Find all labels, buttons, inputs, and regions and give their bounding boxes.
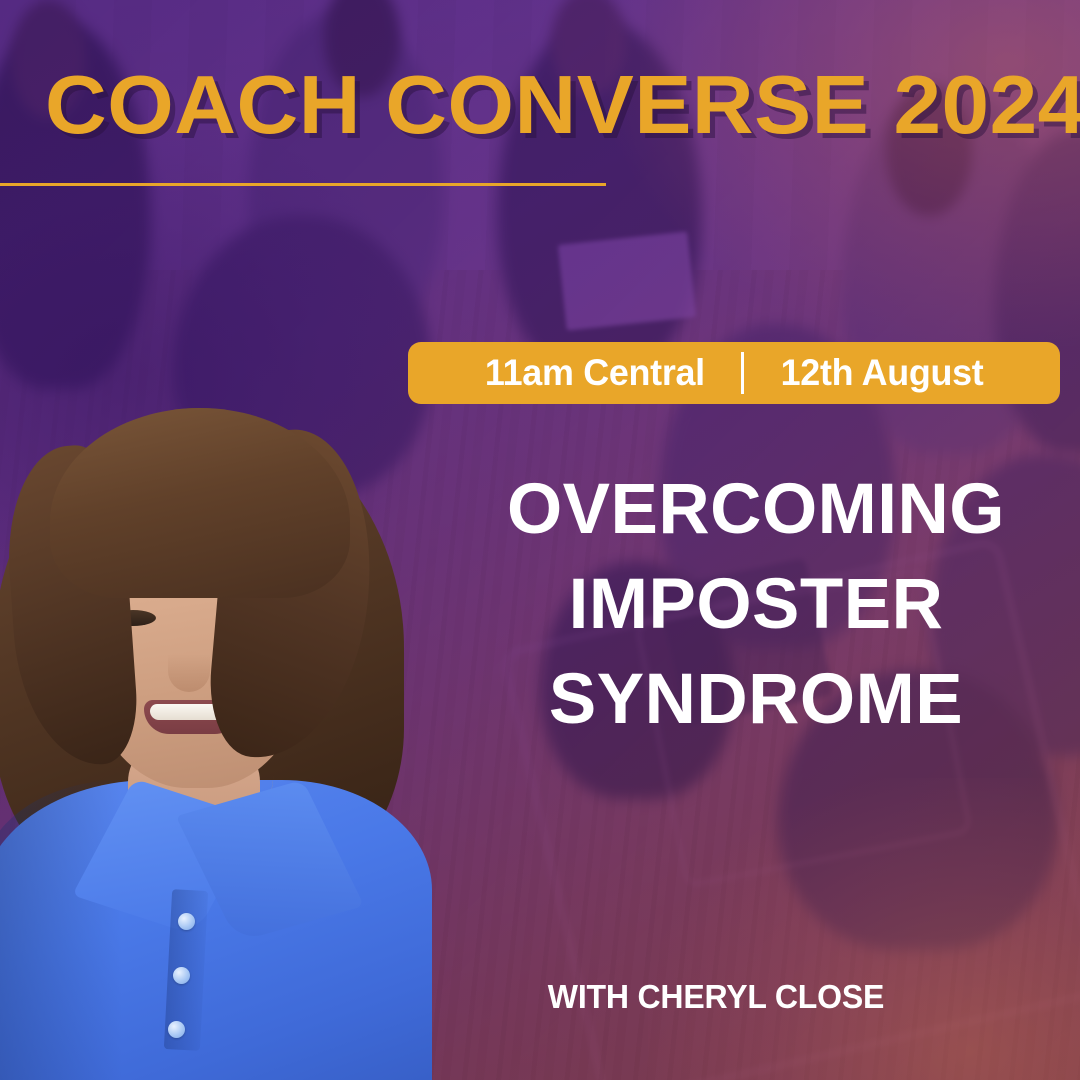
headline-line-2: IMPOSTER (446, 557, 1066, 652)
headline-line-3: SYNDROME (446, 652, 1066, 747)
speaker-credit: WITH CHERYL CLOSE (425, 978, 1007, 1016)
event-promo-poster: COACH CONVERSE 2024 11am Central 12th Au… (0, 0, 1080, 1080)
event-title: COACH CONVERSE 2024 (45, 57, 1080, 153)
poster-content: COACH CONVERSE 2024 11am Central 12th Au… (0, 0, 1080, 1080)
date-time-badge: 11am Central 12th August (408, 342, 1060, 404)
badge-date-label: 12th August (748, 352, 984, 394)
session-headline: OVERCOMING IMPOSTER SYNDROME (446, 462, 1066, 747)
badge-time-label: 11am Central (484, 352, 737, 394)
badge-divider (741, 352, 744, 394)
title-divider-rule (0, 183, 606, 186)
headline-line-1: OVERCOMING (446, 462, 1066, 557)
